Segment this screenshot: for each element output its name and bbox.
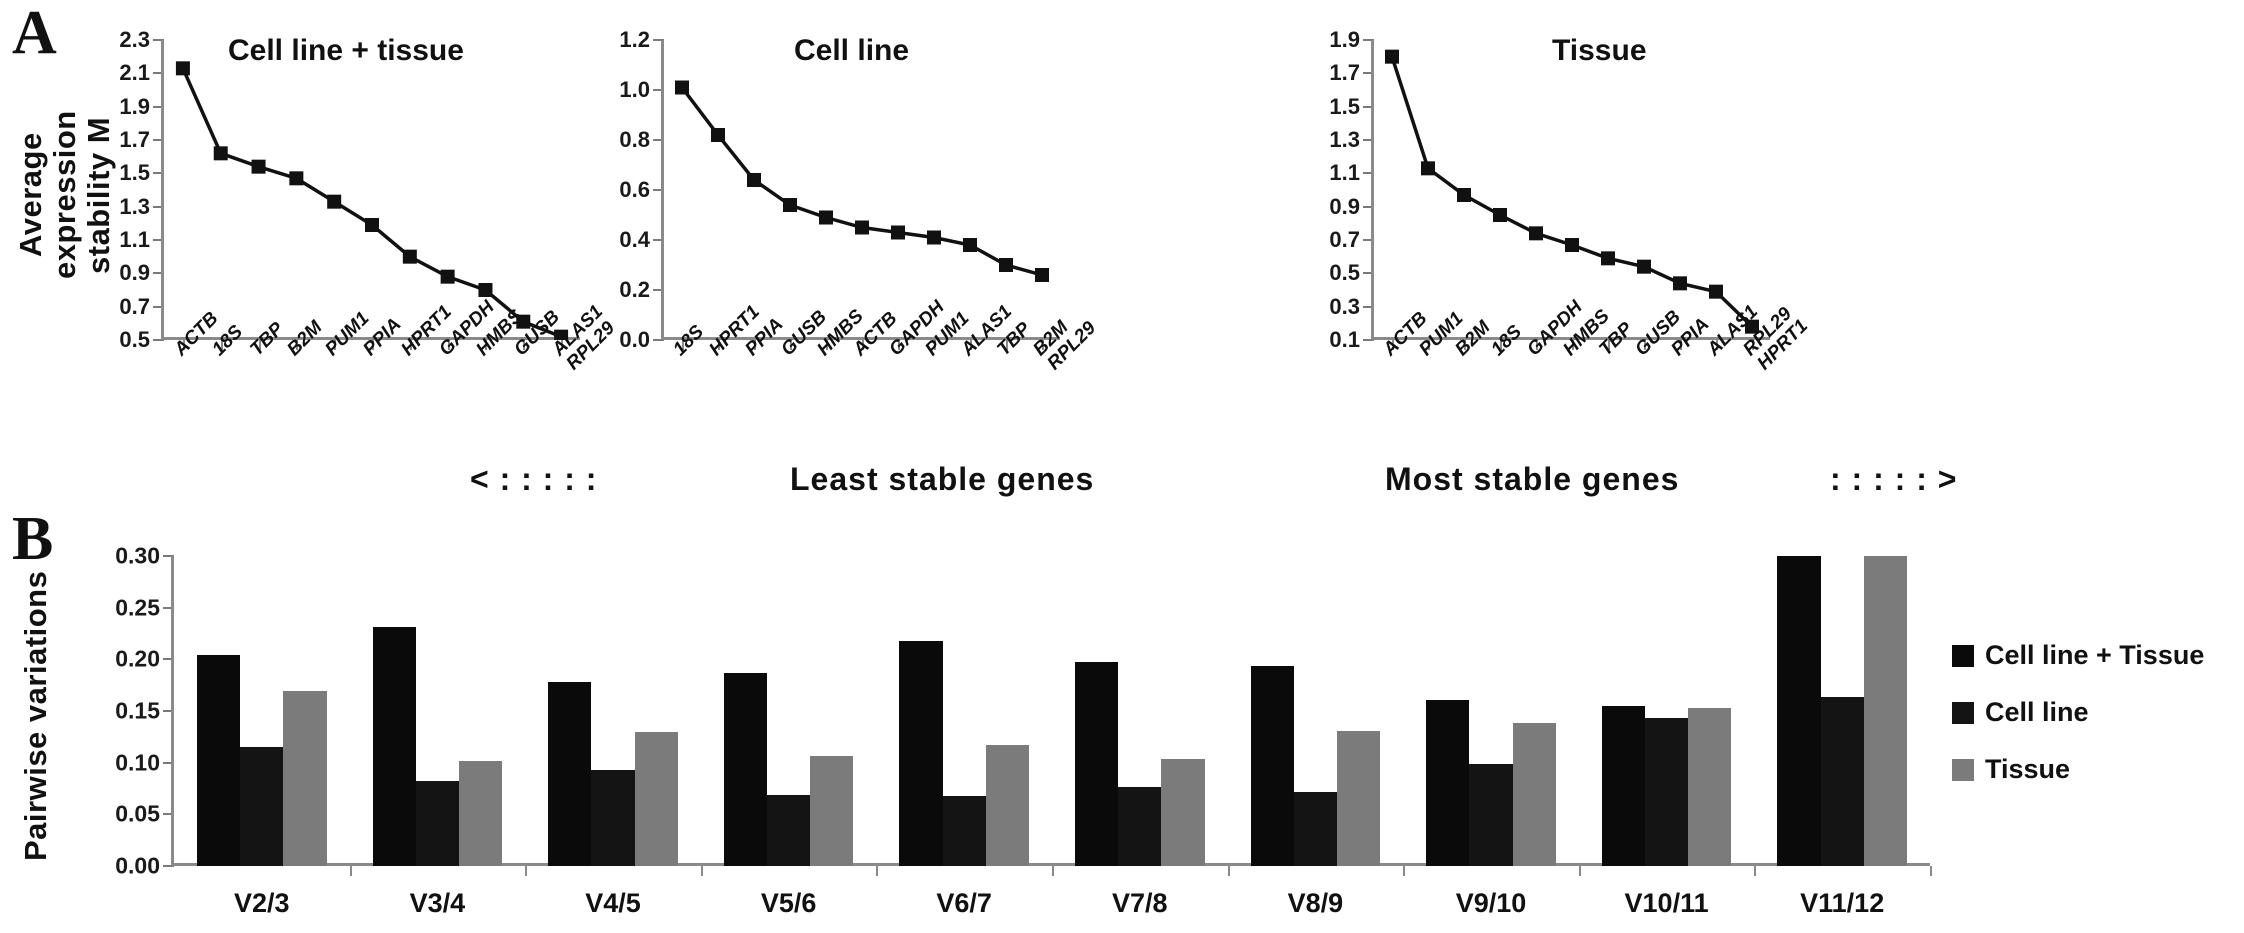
- y-tick-label: 0.7: [119, 294, 150, 320]
- y-tick-label: 1.1: [119, 227, 150, 253]
- bar-group: V9/10: [1426, 556, 1556, 866]
- bar-group: V4/5: [548, 556, 678, 866]
- plot-area: 18SHPRT1PPIAGUSBHMBSACTBGAPDHPUM1ALAS1TB…: [664, 40, 1060, 340]
- bar: [1645, 718, 1688, 866]
- least-stable-label: Least stable genes: [790, 461, 1094, 498]
- bar: [240, 747, 283, 866]
- x-tick-label: V10/11: [1602, 888, 1732, 919]
- bar-group: V5/6: [724, 556, 854, 866]
- y-tick-label: 0.5: [1329, 260, 1360, 286]
- legend-label: Cell line + Tissue: [1985, 640, 2204, 671]
- bar-group: V11/12: [1777, 556, 1907, 866]
- bar: [1777, 556, 1820, 866]
- series-line: [664, 40, 1060, 340]
- y-tick-label: 0.10: [115, 749, 160, 776]
- bar: [1426, 700, 1469, 866]
- legend-swatch-icon: [1952, 759, 1974, 781]
- y-tick-label: 0.2: [619, 277, 650, 303]
- y-tick-label: 1.9: [1329, 27, 1360, 53]
- bar-group: V7/8: [1075, 556, 1205, 866]
- y-axis: 0.00.20.40.60.81.01.2: [580, 40, 664, 340]
- legend-item[interactable]: Cell line: [1952, 697, 2242, 728]
- bar: [1294, 792, 1337, 866]
- bar: [943, 796, 986, 866]
- x-tick-mark: [1754, 866, 1756, 876]
- x-tick-mark: [525, 866, 527, 876]
- legend-label: Tissue: [1985, 754, 2070, 785]
- bar: [416, 781, 459, 866]
- legend-item[interactable]: Tissue: [1952, 754, 2242, 785]
- bar: [459, 761, 502, 866]
- bar: [767, 795, 810, 866]
- y-tick-label: 0.05: [115, 801, 160, 828]
- x-axis-labels: ACTBPUM1B2M18SGAPDHHMBSTBPGUSBPPIAALAS1R…: [1374, 340, 1770, 430]
- y-tick-label: 1.5: [119, 160, 150, 186]
- y-tick-label: 1.9: [119, 94, 150, 120]
- legend-swatch-icon: [1952, 702, 1974, 724]
- x-tick-label: V5/6: [724, 888, 854, 919]
- x-tick-mark: [1579, 866, 1581, 876]
- y-axis: 0.000.050.100.150.200.250.30: [90, 556, 174, 866]
- x-tick-label: V11/12: [1777, 888, 1907, 919]
- x-tick-mark: [1228, 866, 1230, 876]
- x-tick-mark: [876, 866, 878, 876]
- bar: [1864, 556, 1907, 866]
- y-tick-label: 0.1: [1329, 327, 1360, 353]
- x-tick-label: V6/7: [899, 888, 1029, 919]
- chart-tissue: Tissue0.10.30.50.70.91.11.31.51.71.9ACTB…: [1290, 40, 1770, 340]
- y-axis: 0.50.70.91.11.31.51.71.92.12.3: [80, 40, 164, 340]
- x-axis-labels: ACTB18STBPB2MPUM1PPIAHPRT1GAPDHHMBSGUSBA…: [164, 340, 580, 430]
- bar: [635, 732, 678, 866]
- bar-group: V8/9: [1251, 556, 1381, 866]
- series-line: [1374, 40, 1770, 340]
- panel-a-y-axis-title: Average expression stability M: [14, 50, 78, 340]
- bar: [899, 641, 942, 866]
- bar-group: V10/11: [1602, 556, 1732, 866]
- legend: Cell line + TissueCell lineTissue: [1952, 640, 2242, 811]
- y-tick-label: 0.00: [115, 853, 160, 880]
- most-stable-label: Most stable genes: [1385, 461, 1679, 498]
- bar: [1118, 787, 1161, 866]
- bar: [1251, 666, 1294, 866]
- bar: [1688, 708, 1731, 866]
- y-tick-label: 1.2: [619, 27, 650, 53]
- y-tick-label: 0.25: [115, 594, 160, 621]
- bar: [1161, 759, 1204, 866]
- y-tick-label: 0.8: [619, 127, 650, 153]
- plot-area: ACTBPUM1B2M18SGAPDHHMBSTBPGUSBPPIAALAS1R…: [1374, 40, 1770, 340]
- y-tick-label: 0.15: [115, 698, 160, 725]
- x-tick-label: V2/3: [197, 888, 327, 919]
- bar-group: V2/3: [197, 556, 327, 866]
- y-tick-label: 0.20: [115, 646, 160, 673]
- bar: [724, 673, 767, 866]
- y-tick-label: 1.3: [119, 194, 150, 220]
- y-tick-label: 1.7: [1329, 60, 1360, 86]
- legend-swatch-icon: [1952, 645, 1974, 667]
- bar: [591, 770, 634, 866]
- panel-b-y-axis-title: Pairwise variations: [18, 556, 62, 876]
- x-tick-label: V9/10: [1426, 888, 1556, 919]
- x-tick-mark: [1403, 866, 1405, 876]
- y-tick-label: 0.3: [1329, 294, 1360, 320]
- y-tick-label: 0.9: [1329, 194, 1360, 220]
- y-tick-label: 1.5: [1329, 94, 1360, 120]
- y-tick-label: 0.4: [619, 227, 650, 253]
- y-tick-label: 2.1: [119, 60, 150, 86]
- x-axis-labels: 18SHPRT1PPIAGUSBHMBSACTBGAPDHPUM1ALAS1TB…: [664, 340, 1060, 430]
- x-tick-label: V4/5: [548, 888, 678, 919]
- bar: [1513, 723, 1556, 866]
- y-tick-label: 2.3: [119, 27, 150, 53]
- x-tick-mark: [350, 866, 352, 876]
- y-tick-label: 0.5: [119, 327, 150, 353]
- stability-direction-band: < : : : : : Least stable genes Most stab…: [0, 455, 2244, 515]
- bar: [548, 682, 591, 866]
- least-stable-arrow: < : : : : :: [470, 461, 597, 498]
- chart-cell-line-plus-tissue: Cell line + tissue0.50.70.91.11.31.51.71…: [80, 40, 580, 340]
- x-tick-mark: [1052, 866, 1054, 876]
- y-tick-label: 0.9: [119, 260, 150, 286]
- y-tick-label: 0.30: [115, 543, 160, 570]
- x-tick-label: V3/4: [373, 888, 503, 919]
- bar: [810, 756, 853, 866]
- bar: [197, 655, 240, 866]
- bar: [1821, 697, 1864, 866]
- y-tick-label: 0.0: [619, 327, 650, 353]
- bar-group: V6/7: [899, 556, 1029, 866]
- series-line: [164, 40, 580, 340]
- figure-root: A Average expression stability M Cell li…: [0, 0, 2244, 933]
- bar: [1337, 731, 1380, 866]
- chart-pairwise-variations: 0.000.050.100.150.200.250.30V2/3V3/4V4/5…: [90, 556, 1930, 866]
- bar: [1602, 706, 1645, 866]
- plot-area: V2/3V3/4V4/5V5/6V6/7V7/8V8/9V9/10V10/11V…: [174, 556, 1930, 866]
- most-stable-arrow: : : : : : >: [1830, 461, 1957, 498]
- y-tick-label: 1.3: [1329, 127, 1360, 153]
- x-tick-mark: [701, 866, 703, 876]
- y-axis: 0.10.30.50.70.91.11.31.51.71.9: [1290, 40, 1374, 340]
- bar: [1075, 662, 1118, 866]
- bar: [986, 745, 1029, 866]
- y-tick-label: 0.6: [619, 177, 650, 203]
- bar: [283, 691, 326, 866]
- x-tick-label: V8/9: [1251, 888, 1381, 919]
- bar: [1469, 764, 1512, 866]
- legend-item[interactable]: Cell line + Tissue: [1952, 640, 2242, 671]
- y-tick-label: 1.0: [619, 77, 650, 103]
- x-tick-mark: [1930, 866, 1932, 876]
- y-tick-label: 0.7: [1329, 227, 1360, 253]
- legend-label: Cell line: [1985, 697, 2089, 728]
- bar: [373, 627, 416, 866]
- y-tick-label: 1.1: [1329, 160, 1360, 186]
- x-tick-label: V7/8: [1075, 888, 1205, 919]
- chart-cell-line: Cell line0.00.20.40.60.81.01.218SHPRT1PP…: [580, 40, 1060, 340]
- y-tick-label: 1.7: [119, 127, 150, 153]
- plot-area: ACTB18STBPB2MPUM1PPIAHPRT1GAPDHHMBSGUSBA…: [164, 40, 580, 340]
- bar-group: V3/4: [373, 556, 503, 866]
